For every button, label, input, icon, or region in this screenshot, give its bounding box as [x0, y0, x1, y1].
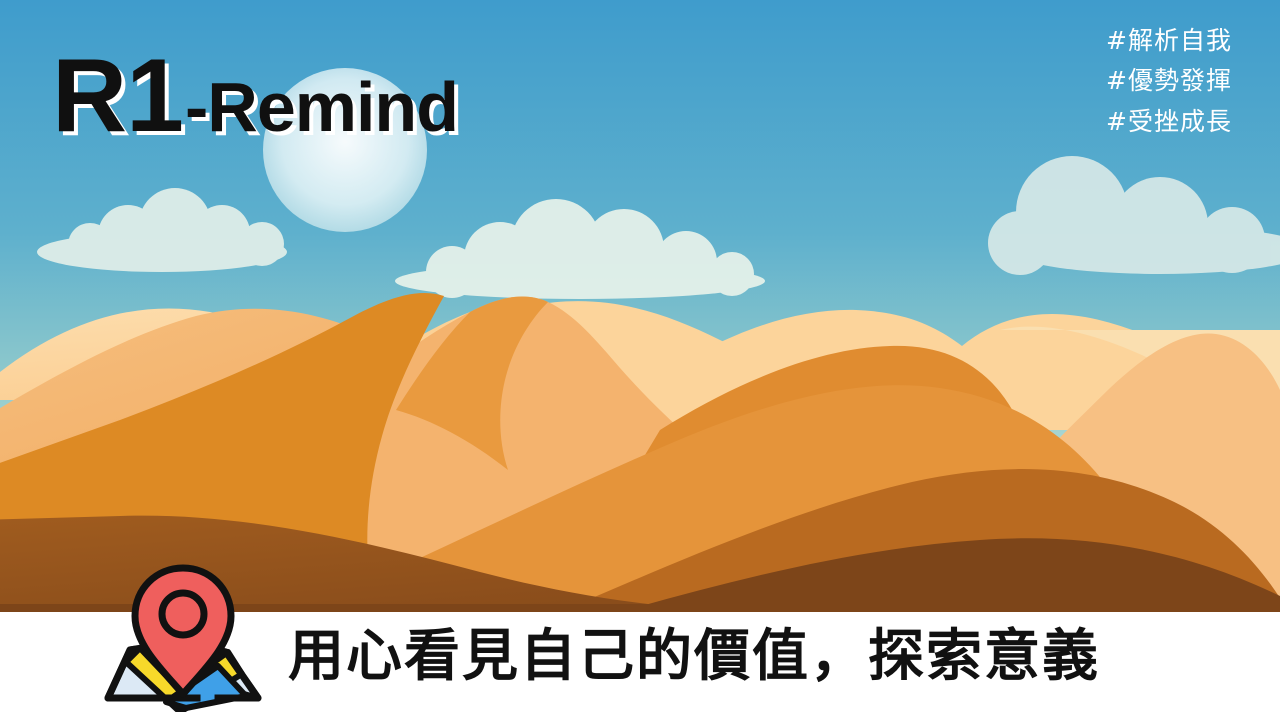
hashtag-item-1: #解析自我 [1106, 28, 1232, 54]
page-title: R1 -Remind [52, 44, 458, 148]
title-main-text: R1 [52, 44, 183, 148]
title-suffix-text: -Remind [185, 72, 458, 142]
caption-text: 用心看見自己的價值，探索意義 [288, 626, 1100, 688]
hashtag-item-3: #受挫成長 [1106, 109, 1232, 135]
slide-canvas: R1 -Remind #解析自我 #優勢發揮 #受挫成長 [0, 0, 1280, 720]
map-pin-icon [100, 562, 266, 712]
hashtag-item-2: #優勢發揮 [1106, 68, 1232, 94]
hashtag-list: #解析自我 #優勢發揮 #受挫成長 [1106, 28, 1232, 135]
